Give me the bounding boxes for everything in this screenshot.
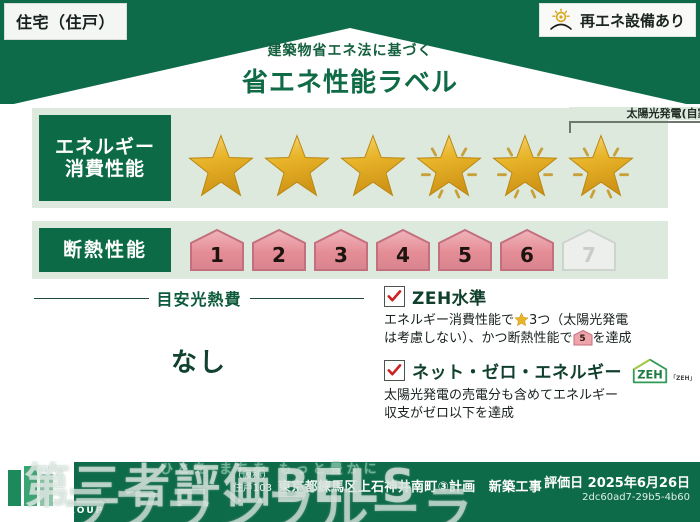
criterion-net-zero-energy: ネット・ゼロ・エネルギー ZEH 「ZEH」 太陽光発電の売電分も含めてエネルギ…	[384, 358, 670, 424]
town-group-logo-text: TOWN GROUP	[14, 506, 104, 516]
star-icon-filled	[185, 132, 257, 202]
energy-category-line1: エネルギー	[55, 136, 155, 158]
svg-text:ZEH: ZEH	[637, 367, 663, 381]
utility-cost-block: 目安光熱費 なし	[34, 286, 364, 379]
insulation-grade-number: 6	[520, 245, 534, 272]
insulation-grade-empty: 7	[561, 228, 617, 272]
checkbox-net-zero-energy[interactable]	[384, 360, 405, 381]
housing-type-badge: 住宅（住戸）	[4, 3, 127, 40]
insulation-performance-panel: 断熱性能 1 2	[32, 221, 668, 279]
checkbox-zeh-level[interactable]	[384, 286, 405, 307]
utility-cost-header: 目安光熱費	[34, 286, 364, 310]
town-group-logo: TOWN GROUP	[8, 466, 208, 520]
star-icon-solar	[413, 132, 485, 202]
criteria-block: ZEH水準 エネルギー消費性能で3つ（太陽光発電 は考慮しない）、かつ断熱性能で…	[384, 284, 670, 433]
criterion-zeh-level-description: エネルギー消費性能で3つ（太陽光発電 は考慮しない）、かつ断熱性能で5を達成	[384, 312, 670, 349]
house-grade-icon: 5	[573, 330, 593, 346]
insulation-grade-filled: 2	[251, 228, 307, 272]
footer-address: 東京都練馬区上石神井南町③計画 新築工事	[278, 476, 542, 495]
title-block: 建築物省エネ法に基づく 省エネ性能ラベル	[0, 40, 700, 99]
star-icon-solar	[565, 132, 637, 202]
insulation-grade-number: 3	[334, 245, 348, 272]
footer-project-line1: （仮称）	[220, 470, 272, 483]
utility-cost-title: 目安光熱費	[157, 286, 242, 310]
insulation-grade-number: 4	[396, 245, 410, 272]
insulation-grade-filled: 6	[499, 228, 555, 272]
footer-document-id: 2dc60ad7-29b5-4b60	[544, 492, 690, 503]
insulation-grade-number: 2	[272, 245, 286, 272]
energy-performance-label: 住宅（住戸） 再エネ設備あり 建築物省	[0, 0, 700, 522]
zeh-logo-mini-label: 「ZEH」	[670, 373, 695, 384]
star-icon-filled	[337, 132, 409, 202]
zeh-desc-line2-part1: は考慮しない）、かつ断熱性能で	[384, 331, 573, 346]
energy-category-box: エネルギー 消費性能	[39, 115, 171, 201]
star-icon	[514, 312, 529, 327]
insulation-grade-filled: 1	[189, 228, 245, 272]
rule-left	[34, 298, 149, 299]
rule-right	[250, 298, 365, 299]
footer-evaluation-date-block: 評価日 2025年6月26日 2dc60ad7-29b5-4b60	[544, 472, 690, 503]
footer-evaluation-date: 評価日 2025年6月26日	[544, 472, 690, 491]
zeh-house-logo: ZEH 「ZEH」	[631, 358, 695, 384]
star-icon-filled	[261, 132, 333, 202]
solar-caption: 太陽光発電(自家消費)分	[569, 107, 700, 120]
footer-project-unit: （仮称） 住戸103	[220, 470, 272, 495]
utility-cost-value: なし	[34, 342, 364, 379]
label-header: 住宅（住戸） 再エネ設備あり 建築物省	[0, 0, 700, 104]
energy-category-line2: 消費性能	[65, 158, 145, 180]
criterion-net-zero-energy-description: 太陽光発電の売電分も含めてエネルギー 収支がゼロ以下を達成	[384, 387, 670, 424]
house-grade-icon-value: 5	[573, 332, 593, 346]
criterion-net-zero-energy-header: ネット・ゼロ・エネルギー ZEH 「ZEH」	[384, 358, 670, 384]
insulation-category-box: 断熱性能	[39, 228, 171, 272]
insulation-grade-number: 7	[582, 245, 596, 272]
sun-icon	[548, 8, 574, 32]
renewable-equipment-badge: 再エネ設備あり	[539, 3, 696, 37]
zeh-desc-part1: エネルギー消費性能で	[384, 313, 514, 328]
insulation-grade-number: 5	[458, 245, 472, 272]
star-icon-solar	[489, 132, 561, 202]
criterion-net-zero-energy-title: ネット・ゼロ・エネルギー	[412, 358, 622, 383]
energy-stars-area: 太陽光発電(自家消費)分	[171, 108, 668, 208]
criterion-zeh-level-header: ZEH水準	[384, 284, 670, 309]
criterion-zeh-level-title: ZEH水準	[412, 284, 487, 309]
zeh-desc-part2: 3つ（太陽光発電	[529, 313, 628, 328]
energy-performance-panel: エネルギー 消費性能 太陽光発電(自家消費)分	[32, 108, 668, 208]
renewable-badge-label: 再エネ設備あり	[580, 10, 685, 31]
town-group-mark-icon	[8, 466, 64, 506]
nze-desc-line1: 太陽光発電の売電分も含めてエネルギー	[384, 388, 618, 403]
footer-project-line2: 住戸103	[220, 483, 272, 496]
insulation-grade-filled: 5	[437, 228, 493, 272]
insulation-grade-row: 1 2 3	[171, 221, 668, 279]
check-icon	[387, 289, 402, 304]
title-subtitle: 建築物省エネ法に基づく	[0, 40, 700, 60]
nze-desc-line2: 収支がゼロ以下を達成	[384, 406, 514, 421]
insulation-grade-filled: 4	[375, 228, 431, 272]
insulation-grade-filled: 3	[313, 228, 369, 272]
zeh-desc-line2-part2: を達成	[593, 331, 632, 346]
page-title: 省エネ性能ラベル	[0, 62, 700, 99]
star-rating-row	[171, 130, 668, 204]
check-icon	[387, 363, 402, 378]
criterion-zeh-level: ZEH水準 エネルギー消費性能で3つ（太陽光発電 は考慮しない）、かつ断熱性能で…	[384, 284, 670, 349]
insulation-grade-number: 1	[210, 245, 224, 272]
